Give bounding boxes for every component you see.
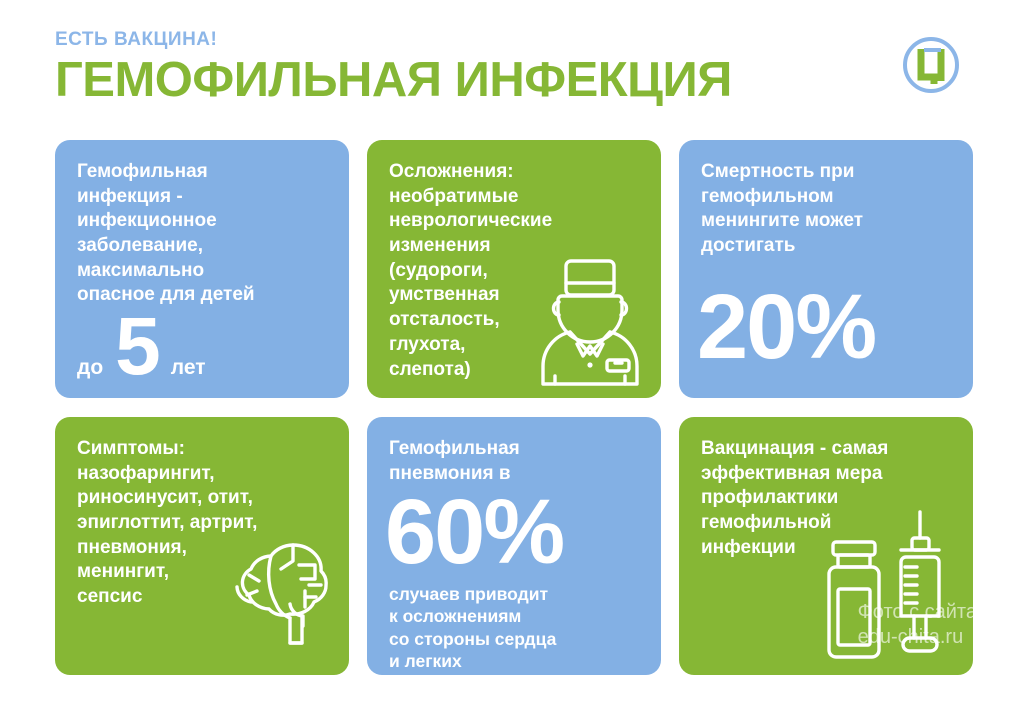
card-mortality: Смертность при гемофильном менингите мож… <box>679 140 973 398</box>
card-complications-text: Осложнения: необратимые неврологические … <box>389 160 643 382</box>
card-mortality-text: Смертность при гемофильном менингите мож… <box>701 160 955 259</box>
card-vaccination-text: Вакцинация - самая эффективная мера проф… <box>701 437 955 560</box>
age-prefix: до <box>77 356 103 380</box>
card-definition-text: Гемофильная инфекция - инфекционное забо… <box>77 160 331 308</box>
card-grid: Гемофильная инфекция - инфекционное забо… <box>55 140 963 692</box>
card-pneumonia-after-text: случаев приводит к осложнениям со сторон… <box>389 583 643 673</box>
monogram-logo <box>900 34 962 96</box>
infographic-page: ЕСТЬ ВАКЦИНА! ГЕМОФИЛЬНАЯ ИНФЕКЦИЯ Гемоф… <box>0 0 1018 720</box>
card-symptoms: Симптомы: назофарингит, риносинусит, оти… <box>55 417 349 675</box>
card-complications: Осложнения: необратимые неврологические … <box>367 140 661 398</box>
mortality-stat: 20% <box>701 285 875 370</box>
card-definition: Гемофильная инфекция - инфекционное забо… <box>55 140 349 398</box>
card-vaccination: Вакцинация - самая эффективная мера проф… <box>679 417 973 675</box>
mortality-value: 20% <box>697 285 875 370</box>
age-stat: до 5 лет <box>77 314 206 380</box>
page-title: ГЕМОФИЛЬНАЯ ИНФЕКЦИЯ <box>55 55 965 106</box>
age-suffix: лет <box>171 356 206 380</box>
header: ЕСТЬ ВАКЦИНА! ГЕМОФИЛЬНАЯ ИНФЕКЦИЯ <box>55 30 965 106</box>
header-kicker: ЕСТЬ ВАКЦИНА! <box>55 30 965 51</box>
card-symptoms-text: Симптомы: назофарингит, риносинусит, оти… <box>77 437 331 610</box>
card-pneumonia: Гемофильная пневмония в 60% случаев прив… <box>367 417 661 675</box>
pneumonia-value: 60% <box>385 490 643 575</box>
card-pneumonia-text: Гемофильная пневмония в <box>389 437 643 486</box>
age-value: 5 <box>115 314 159 380</box>
